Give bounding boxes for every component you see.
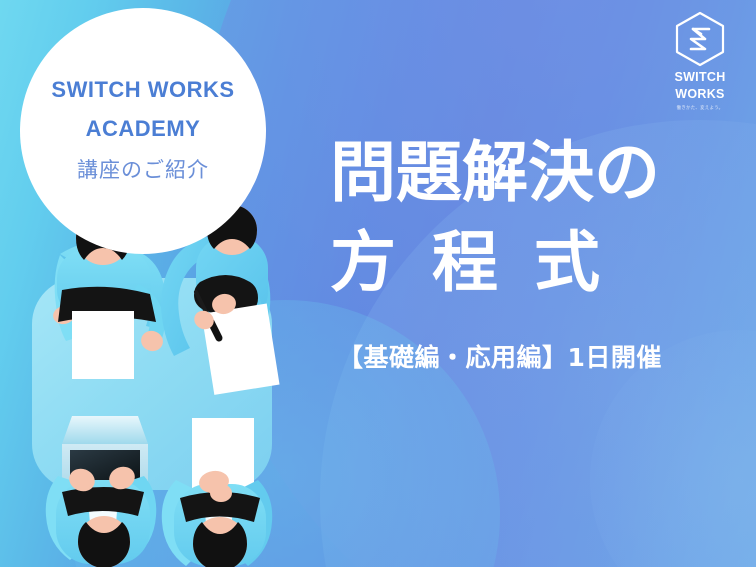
logo-wordmark-line1: SWITCH — [658, 71, 742, 85]
title-line-1: 問題解決の — [330, 128, 730, 218]
badge-subtitle-jp: 講座のご紹介 — [77, 154, 209, 184]
poster-canvas: SWITCH WORKS ACADEMY 講座のご紹介 問題解決の 方程式 【基… — [0, 0, 756, 567]
page-title: 問題解決の 方程式 — [330, 128, 730, 308]
badge-title-line2: ACADEMY — [86, 117, 201, 140]
switch-works-hexagon-s-icon — [658, 10, 742, 68]
badge-title-line1: SWITCH WORKS — [51, 78, 234, 101]
title-line-2: 方程式 — [330, 218, 730, 308]
brand-logo: SWITCH WORKS 働きかた、変えよう。 — [658, 10, 742, 111]
logo-tagline: 働きかた、変えよう。 — [658, 105, 742, 111]
logo-wordmark-line2: WORKS — [658, 88, 742, 102]
event-subtitle: 【基礎編・応用編】1日開催 — [338, 338, 662, 374]
academy-badge: SWITCH WORKS ACADEMY 講座のご紹介 — [20, 8, 266, 254]
